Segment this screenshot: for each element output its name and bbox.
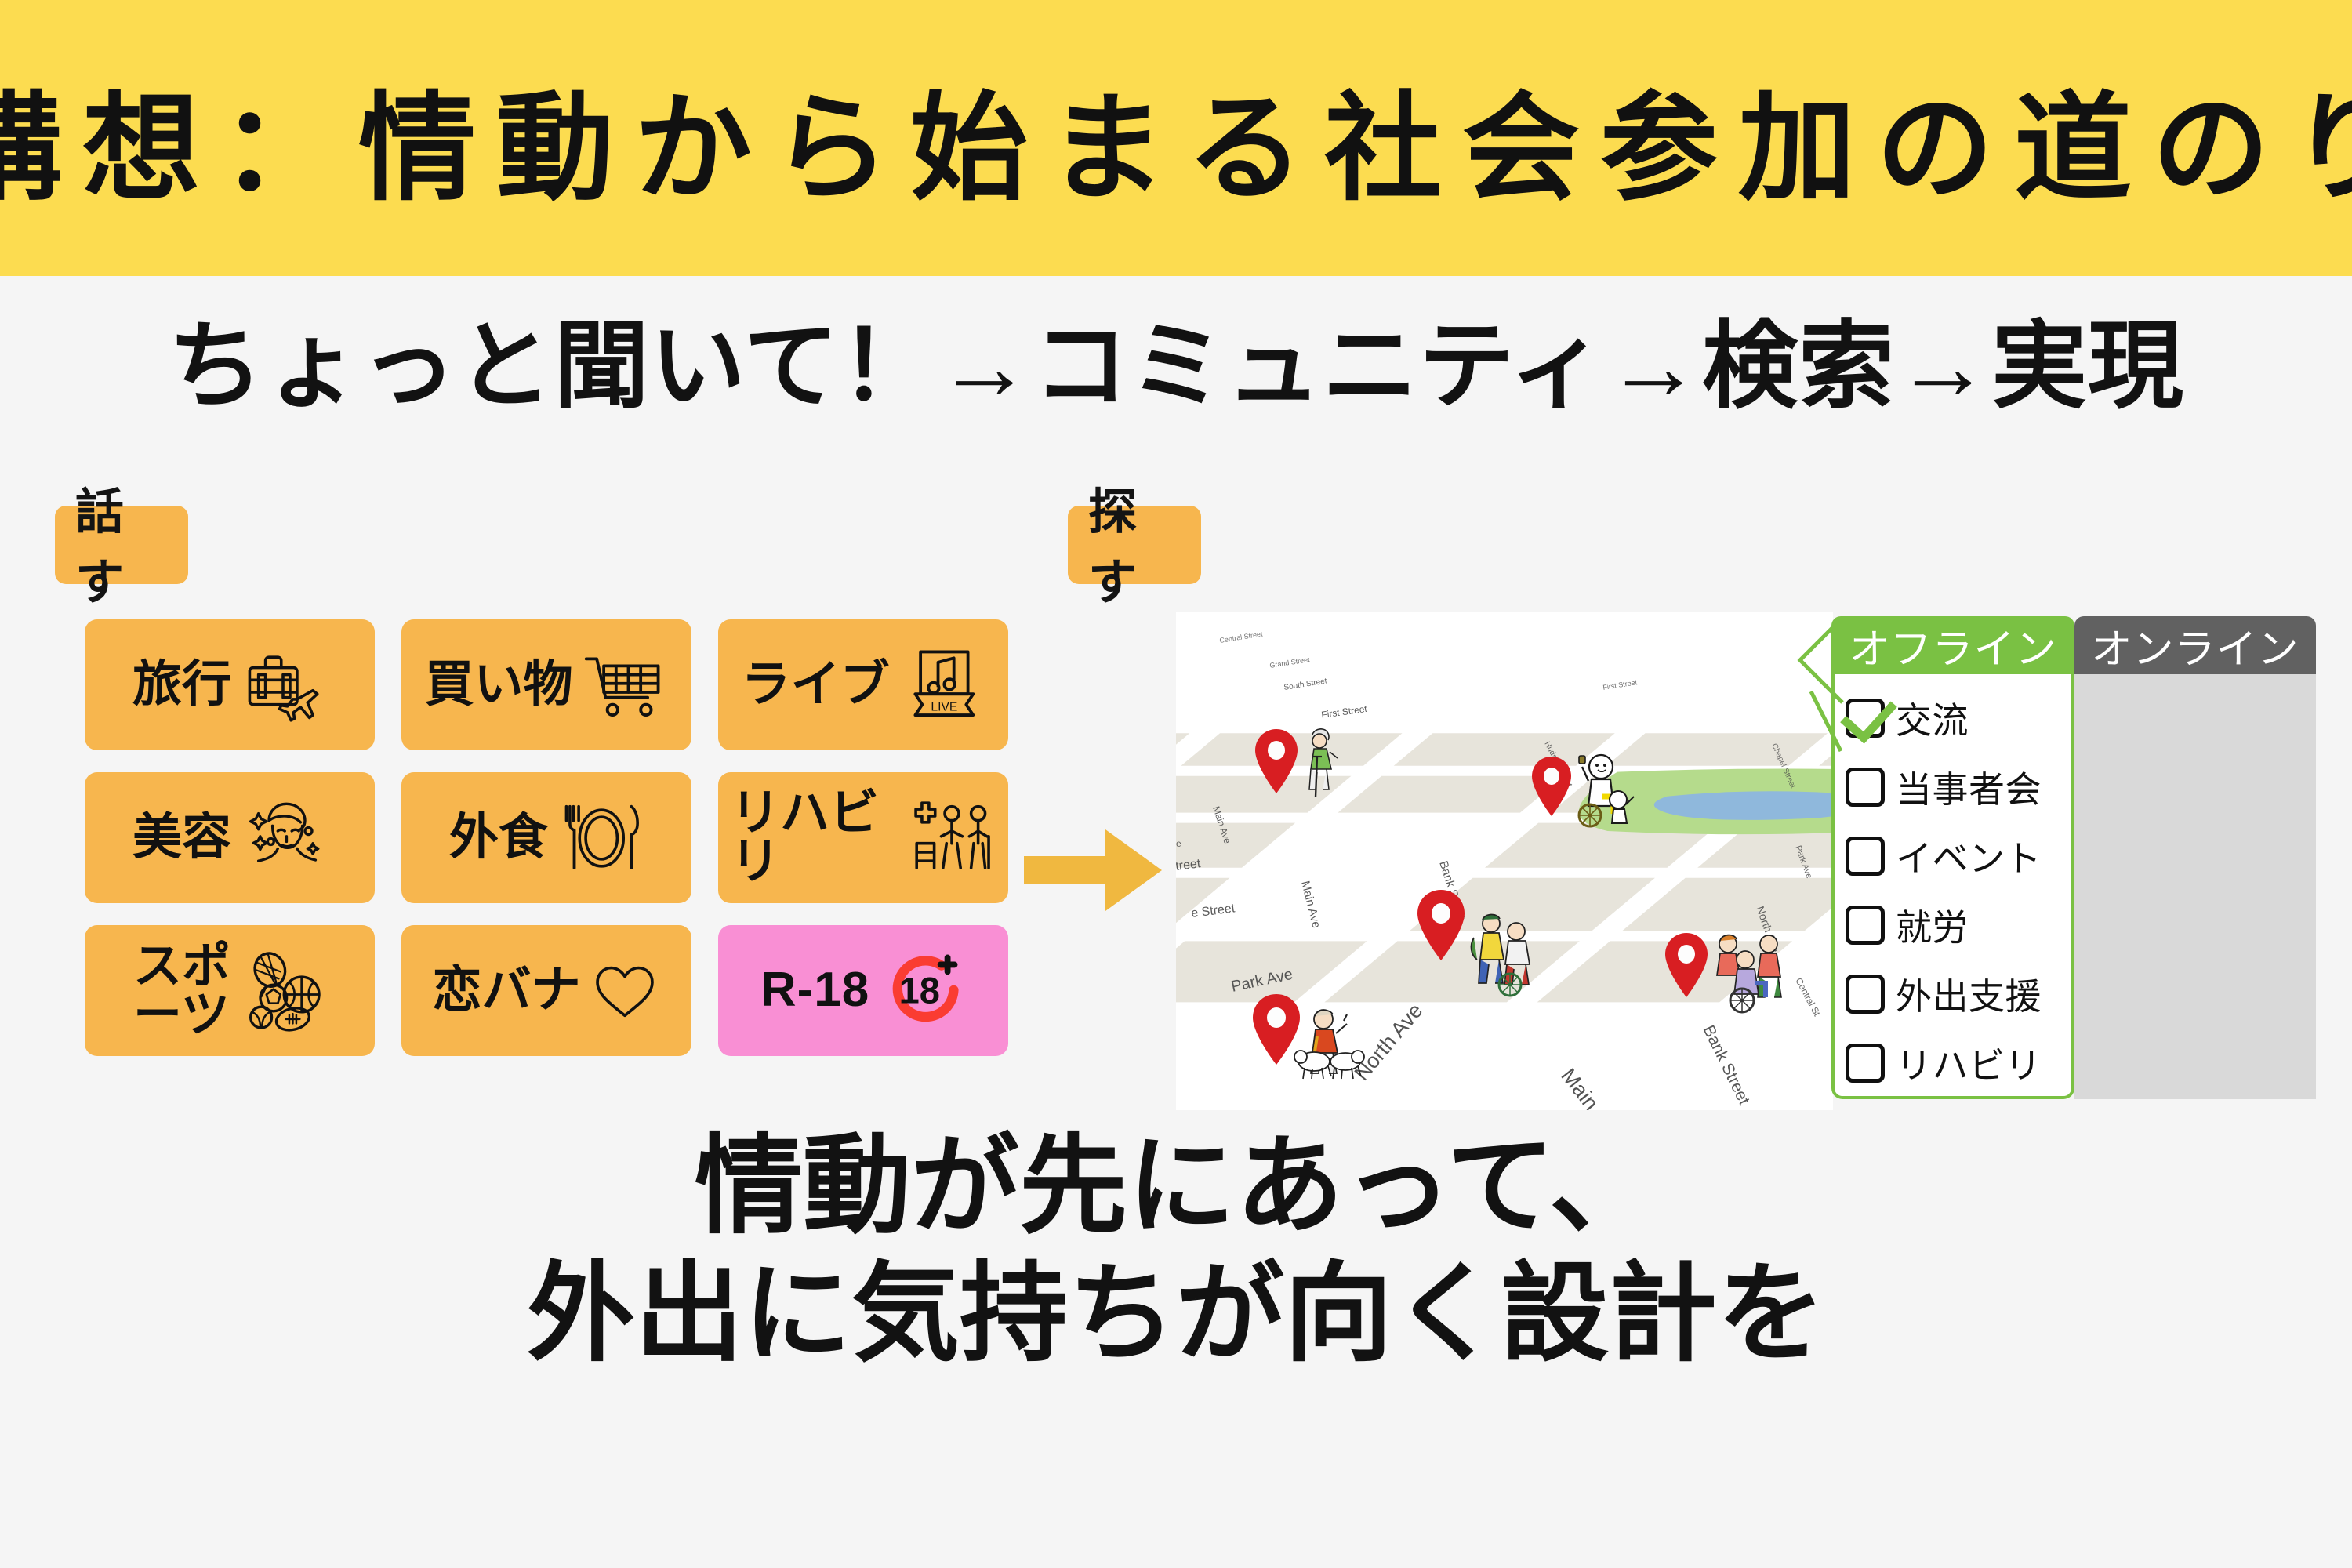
checkbox-icon[interactable] <box>1846 1044 1885 1083</box>
checkbox-icon[interactable] <box>1846 768 1885 807</box>
right-arrow-icon <box>1019 815 1168 925</box>
checkbox-checked-icon[interactable] <box>1846 699 1885 738</box>
tag-talk: 話す <box>55 506 188 584</box>
offline-panel-body: 交流 当事者会 イベント 就労 外出支援 リハビリ <box>1831 671 2074 1099</box>
bottom-message-line1: 情動が先にあって、 <box>0 1123 2352 1250</box>
chip-sports-label: スポ ーツ <box>133 942 230 1040</box>
beauty-face-icon <box>239 794 327 882</box>
filter-item-kouryuu[interactable]: 交流 <box>1846 684 2071 753</box>
panel-pointer-tail <box>1797 613 1844 754</box>
chip-travel-label: 旅行 <box>132 661 231 710</box>
title-band: 構想：情動から始まる社会参加の道のり <box>0 0 2352 276</box>
checkbox-icon[interactable] <box>1846 975 1885 1014</box>
bottom-message-line2: 外出に気持ちが向く設計を <box>0 1250 2352 1378</box>
chip-love-talk[interactable]: 恋バナ <box>401 925 691 1056</box>
filter-item-label: イベント <box>1896 830 2042 882</box>
category-chip-grid: 旅行 買い物 <box>85 619 1008 1056</box>
rehab-people-icon <box>908 794 996 882</box>
tag-search-label: 探す <box>1088 472 1181 613</box>
filter-item-label: 交流 <box>1896 692 1969 744</box>
chip-rehab-label: リハビリ <box>731 789 900 886</box>
tab-online[interactable]: オンライン <box>2074 616 2316 674</box>
chip-beauty[interactable]: 美容 <box>85 772 375 903</box>
filter-item-gaishutsu-shien[interactable]: 外出支援 <box>1846 960 2071 1029</box>
svg-text:e: e <box>1176 838 1181 849</box>
subtitle-flow: ちょっと聞いて！→コミュニティ→検索→実現 <box>0 289 2352 427</box>
checkbox-icon[interactable] <box>1846 906 1885 945</box>
checkbox-icon[interactable] <box>1846 837 1885 876</box>
flow-arrow <box>1019 815 1168 925</box>
heart-icon <box>589 955 661 1027</box>
slide-root: 構想：情動から始まる社会参加の道のり ちょっと聞いて！→コミュニティ→検索→実現… <box>0 0 2352 1568</box>
r18-badge-icon: 18 <box>877 947 965 1035</box>
tab-offline-label: オフライン <box>1849 616 2056 675</box>
filter-item-label: 就労 <box>1896 899 1969 951</box>
tag-talk-label: 話す <box>75 472 168 613</box>
chip-shopping[interactable]: 買い物 <box>401 619 691 750</box>
map-canvas: Central Street Grand Street South Street… <box>1176 612 1833 1110</box>
svg-text:18: 18 <box>899 969 940 1011</box>
chip-r18-label: R-18 <box>761 967 869 1014</box>
filter-item-toujishakai[interactable]: 当事者会 <box>1846 753 2071 822</box>
online-panel-body <box>2074 671 2316 1099</box>
tab-offline[interactable]: オフライン <box>1831 616 2074 674</box>
tab-online-label: オンライン <box>2091 616 2299 675</box>
chip-live-label: ライブ <box>742 661 890 710</box>
live-stage-icon: LIVE <box>898 641 985 729</box>
tag-search: 探す <box>1068 506 1201 584</box>
chip-live[interactable]: ライブ LIVE <box>718 619 1008 750</box>
chip-beauty-label: 美容 <box>132 814 231 862</box>
shopping-cart-icon <box>581 641 669 729</box>
plate-cutlery-icon <box>556 794 644 882</box>
filter-item-label: 当事者会 <box>1896 761 2042 813</box>
filter-item-label: 外出支援 <box>1896 968 2042 1020</box>
chip-dining-label: 外食 <box>449 814 548 862</box>
chip-shopping-label: 買い物 <box>425 661 573 710</box>
map-view[interactable]: Central Street Grand Street South Street… <box>1176 612 1833 1110</box>
filter-tab-bar: オフライン オンライン <box>1831 616 2316 674</box>
chip-dining[interactable]: 外食 <box>401 772 691 903</box>
svg-text:LIVE: LIVE <box>931 700 957 713</box>
chip-love-talk-label: 恋バナ <box>433 967 581 1015</box>
bottom-message: 情動が先にあって、 外出に気持ちが向く設計を <box>0 1123 2352 1378</box>
filter-item-shuurou[interactable]: 就労 <box>1846 891 2071 960</box>
chip-sports[interactable]: スポ ーツ <box>85 925 375 1056</box>
community-filter-panel: オフライン オンライン 交流 当事者会 イベント 就労 <box>1831 616 2316 1099</box>
suitcase-plane-icon <box>239 641 327 729</box>
chip-r18[interactable]: R-18 18 <box>718 925 1008 1056</box>
filter-item-rehab[interactable]: リハビリ <box>1846 1029 2071 1098</box>
page-title: 構想：情動から始まる社会参加の道のり <box>0 53 2352 223</box>
chip-rehab[interactable]: リハビリ <box>718 772 1008 903</box>
filter-item-label: リハビリ <box>1896 1037 2042 1089</box>
filter-item-event[interactable]: イベント <box>1846 822 2071 891</box>
sports-balls-icon <box>238 947 326 1035</box>
chip-travel[interactable]: 旅行 <box>85 619 375 750</box>
